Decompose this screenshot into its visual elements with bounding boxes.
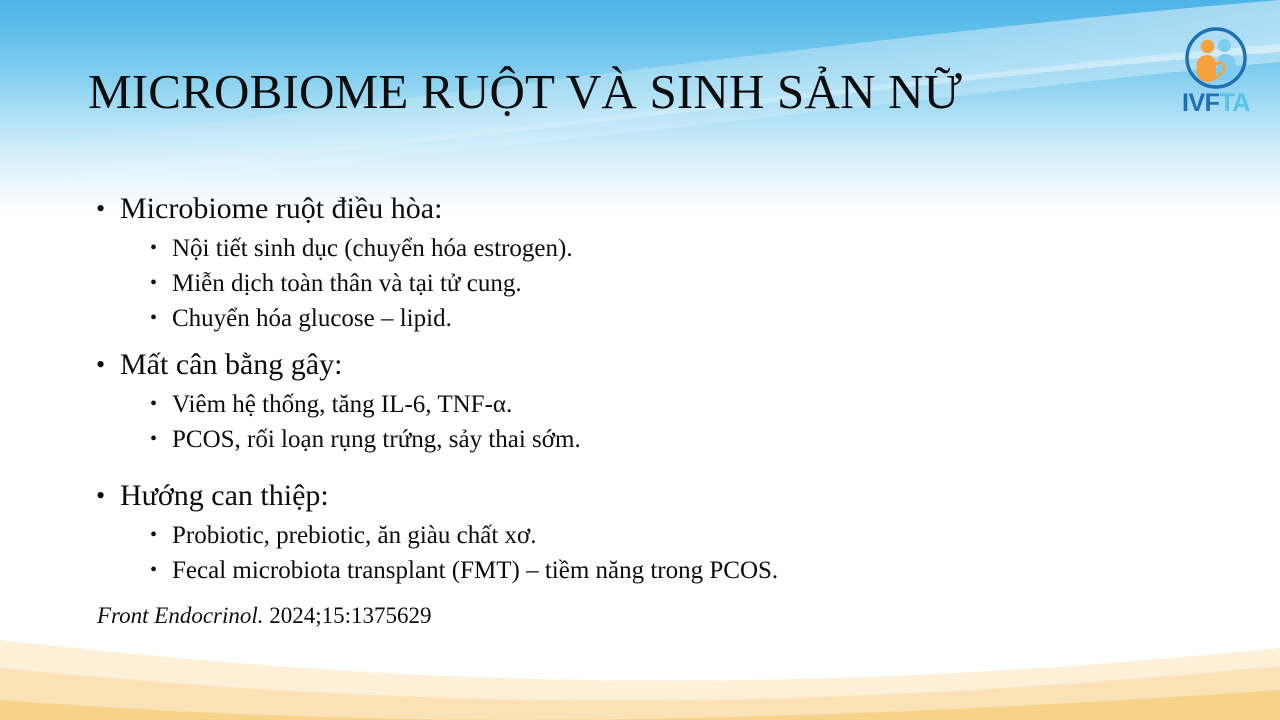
logo-text-ta: TA <box>1219 89 1249 117</box>
bullet-level2-label: Fecal microbiota transplant (FMT) – tiềm… <box>172 557 778 584</box>
bullet-level2: • Nội tiết sinh dục (chuyển hóa estrogen… <box>0 231 1280 266</box>
bullet-glyph: • <box>150 266 157 301</box>
bullet-glyph: • <box>96 186 105 231</box>
bullet-level2: • PCOS, rối loạn rụng trứng, sảy thai sớ… <box>0 422 1280 457</box>
ivfta-logo-text: IVFTA <box>1168 88 1264 118</box>
bullet-level2: • Miễn dịch toàn thân và tại tử cung. <box>0 266 1280 301</box>
bullet-level2-label: Viêm hệ thống, tăng IL-6, TNF-α. <box>172 391 512 418</box>
citation-reference: 2024;15:1375629 <box>264 603 432 628</box>
source-citation: Front Endocrinol. 2024;15:1375629 <box>97 601 432 631</box>
bullet-level1-label: Microbiome ruột điều hòa: <box>120 192 442 225</box>
bullet-glyph: • <box>150 231 157 266</box>
bullet-level2: • Viêm hệ thống, tăng IL-6, TNF-α. <box>0 387 1280 422</box>
bullet-level2: • Probiotic, prebiotic, ăn giàu chất xơ. <box>0 518 1280 553</box>
bullet-level1: • Mất cân bằng gây: <box>0 342 1280 387</box>
slide-body: • Microbiome ruột điều hòa: • Nội tiết s… <box>0 186 1280 588</box>
bullet-glyph: • <box>150 387 157 422</box>
bullet-level2-label: Chuyển hóa glucose – lipid. <box>172 305 452 332</box>
ivfta-family-heart-icon <box>1182 26 1250 92</box>
bullet-glyph: • <box>96 473 105 518</box>
bullet-level2-label: Miễn dịch toàn thân và tại tử cung. <box>172 270 522 297</box>
citation-journal: Front Endocrinol. <box>97 603 264 628</box>
spacer <box>0 457 1280 473</box>
bullet-level1: • Microbiome ruột điều hòa: <box>0 186 1280 231</box>
bullet-glyph: • <box>150 422 157 457</box>
bullet-glyph: • <box>150 518 157 553</box>
bullet-level1-label: Mất cân bằng gây: <box>120 348 342 381</box>
slide-title: MICROBIOME RUỘT VÀ SINH SẢN NỮ <box>88 62 1158 122</box>
bullet-level2-label: PCOS, rối loạn rụng trứng, sảy thai sớm. <box>172 426 581 453</box>
bullet-glyph: • <box>96 342 105 387</box>
bullet-glyph: • <box>150 301 157 336</box>
bullet-level1-label: Hướng can thiệp: <box>120 479 329 512</box>
ivfta-logo: IVFTA <box>1168 26 1264 124</box>
bullet-level1: • Hướng can thiệp: <box>0 473 1280 518</box>
logo-text-ivf: IVF <box>1182 89 1219 117</box>
presentation-slide: MICROBIOME RUỘT VÀ SINH SẢN NỮ IVFTA <box>0 0 1280 720</box>
bullet-glyph: • <box>150 553 157 588</box>
bullet-level2: • Chuyển hóa glucose – lipid. <box>0 301 1280 336</box>
bullet-level2-label: Probiotic, prebiotic, ăn giàu chất xơ. <box>172 522 537 549</box>
bullet-level2-label: Nội tiết sinh dục (chuyển hóa estrogen). <box>172 235 573 262</box>
bullet-level2: • Fecal microbiota transplant (FMT) – ti… <box>0 553 1280 588</box>
